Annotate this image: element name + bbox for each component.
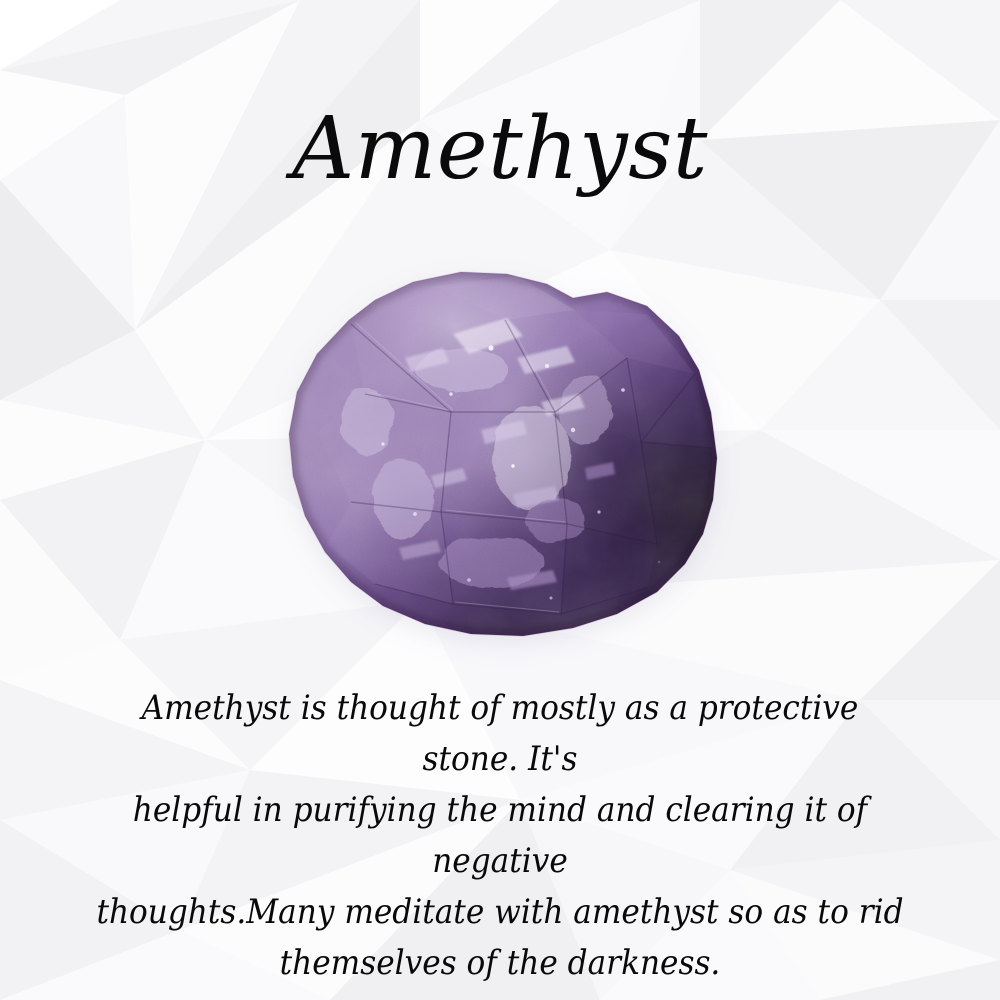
amethyst-stone-image bbox=[255, 262, 735, 662]
description-line: Amethyst is thought of mostly as a prote… bbox=[93, 682, 908, 784]
description-line: helpful in purifying the mind and cleari… bbox=[93, 784, 908, 886]
description-line: thoughts.Many meditate with amethyst so … bbox=[93, 886, 908, 937]
amethyst-crystal-icon bbox=[255, 262, 735, 662]
amethyst-info-card: Amethyst bbox=[0, 0, 1000, 1000]
stone-description: Amethyst is thought of mostly as a prote… bbox=[93, 682, 908, 988]
description-line: themselves of the darkness. bbox=[93, 937, 908, 988]
page-title: Amethyst bbox=[0, 104, 1000, 194]
